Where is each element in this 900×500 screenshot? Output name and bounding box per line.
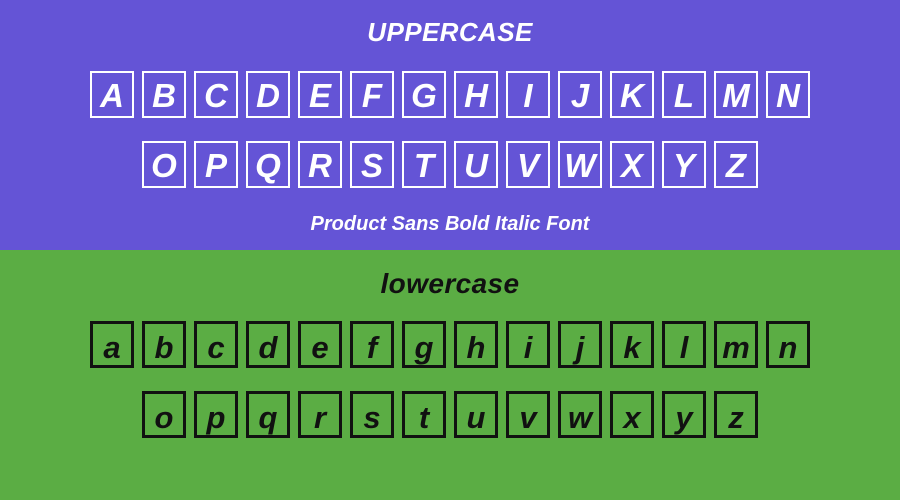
lowercase-panel: lowercase abcdefghijklmn opqrstuvwxyz Pr… (0, 250, 900, 500)
glyph-cell: r (298, 391, 342, 438)
glyph-character: u (467, 402, 486, 433)
glyph-cell: u (454, 391, 498, 438)
glyph-character: Y (673, 149, 695, 182)
glyph-character: T (414, 149, 434, 182)
glyph-cell: c (194, 321, 238, 368)
glyph-character: i (524, 332, 533, 363)
glyph-character: o (155, 402, 174, 433)
glyph-character: n (779, 332, 798, 363)
glyph-cell: C (194, 71, 238, 118)
glyph-character: x (623, 402, 640, 433)
glyph-cell: k (610, 321, 654, 368)
glyph-character: O (151, 149, 177, 182)
glyph-cell: R (298, 141, 342, 188)
glyph-cell: W (558, 141, 602, 188)
glyph-character: U (464, 149, 488, 182)
glyph-cell: X (610, 141, 654, 188)
glyph-character: v (519, 402, 536, 433)
glyph-character: L (674, 79, 694, 112)
glyph-cell: m (714, 321, 758, 368)
glyph-character: G (411, 79, 437, 112)
glyph-cell: V (506, 141, 550, 188)
glyph-character: Z (726, 149, 746, 182)
glyph-cell: x (610, 391, 654, 438)
glyph-cell: i (506, 321, 550, 368)
glyph-cell: p (194, 391, 238, 438)
uppercase-glyph-row-1: ABCDEFGHIJKLMN (0, 71, 900, 118)
glyph-character: F (362, 79, 382, 112)
lowercase-glyph-row-1: abcdefghijklmn (0, 321, 900, 368)
glyph-cell: D (246, 71, 290, 118)
glyph-character: q (259, 402, 278, 433)
glyph-cell: Z (714, 141, 758, 188)
glyph-character: M (722, 79, 750, 112)
glyph-character: C (204, 79, 228, 112)
glyph-character: E (309, 79, 331, 112)
glyph-character: a (103, 332, 120, 363)
glyph-character: j (576, 332, 585, 363)
font-specimen-sheet: UPPERCASE ABCDEFGHIJKLMN OPQRSTUVWXYZ Pr… (0, 0, 900, 500)
glyph-cell: O (142, 141, 186, 188)
glyph-character: k (623, 332, 640, 363)
glyph-character: g (415, 332, 434, 363)
glyph-cell: j (558, 321, 602, 368)
glyph-cell: v (506, 391, 550, 438)
lowercase-glyph-row-2: opqrstuvwxyz (0, 391, 900, 438)
glyph-character: p (207, 402, 226, 433)
glyph-cell: N (766, 71, 810, 118)
glyph-cell: f (350, 321, 394, 368)
glyph-cell: K (610, 71, 654, 118)
glyph-character: f (367, 332, 377, 363)
glyph-cell: B (142, 71, 186, 118)
glyph-cell: e (298, 321, 342, 368)
glyph-cell: E (298, 71, 342, 118)
glyph-cell: s (350, 391, 394, 438)
glyph-cell: t (402, 391, 446, 438)
glyph-cell: l (662, 321, 706, 368)
glyph-character: d (259, 332, 278, 363)
uppercase-section-title: UPPERCASE (0, 17, 900, 48)
uppercase-font-caption: Product Sans Bold Italic Font (0, 213, 900, 236)
glyph-cell: G (402, 71, 446, 118)
glyph-cell: b (142, 321, 186, 368)
glyph-cell: U (454, 141, 498, 188)
glyph-cell: g (402, 321, 446, 368)
lowercase-section-title: lowercase (0, 268, 900, 300)
glyph-character: H (464, 79, 488, 112)
glyph-character: y (675, 402, 692, 433)
glyph-character: V (517, 149, 539, 182)
glyph-cell: d (246, 321, 290, 368)
glyph-character: B (152, 79, 176, 112)
glyph-character: w (568, 402, 592, 433)
glyph-character: D (256, 79, 280, 112)
glyph-cell: Q (246, 141, 290, 188)
glyph-cell: J (558, 71, 602, 118)
glyph-character: h (467, 332, 486, 363)
glyph-character: m (722, 332, 750, 363)
glyph-character: R (308, 149, 332, 182)
glyph-cell: h (454, 321, 498, 368)
uppercase-panel: UPPERCASE ABCDEFGHIJKLMN OPQRSTUVWXYZ Pr… (0, 0, 900, 250)
glyph-cell: A (90, 71, 134, 118)
glyph-cell: a (90, 321, 134, 368)
glyph-character: s (363, 402, 380, 433)
glyph-character: N (776, 79, 800, 112)
glyph-character: J (571, 79, 589, 112)
glyph-cell: Y (662, 141, 706, 188)
glyph-character: W (564, 149, 595, 182)
glyph-character: Q (255, 149, 281, 182)
glyph-cell: T (402, 141, 446, 188)
glyph-character: I (523, 79, 532, 112)
glyph-character: l (680, 332, 689, 363)
glyph-character: t (419, 402, 429, 433)
glyph-cell: I (506, 71, 550, 118)
glyph-character: A (100, 79, 124, 112)
uppercase-glyph-row-2: OPQRSTUVWXYZ (0, 141, 900, 188)
glyph-cell: y (662, 391, 706, 438)
glyph-cell: z (714, 391, 758, 438)
glyph-cell: o (142, 391, 186, 438)
glyph-cell: L (662, 71, 706, 118)
glyph-cell: M (714, 71, 758, 118)
glyph-cell: F (350, 71, 394, 118)
glyph-character: X (621, 149, 643, 182)
glyph-cell: q (246, 391, 290, 438)
glyph-cell: S (350, 141, 394, 188)
glyph-character: r (314, 402, 326, 433)
glyph-character: z (728, 402, 744, 433)
glyph-cell: w (558, 391, 602, 438)
glyph-character: b (155, 332, 174, 363)
glyph-character: S (361, 149, 383, 182)
glyph-cell: P (194, 141, 238, 188)
glyph-character: K (620, 79, 644, 112)
glyph-character: e (311, 332, 328, 363)
glyph-cell: H (454, 71, 498, 118)
glyph-character: c (207, 332, 224, 363)
glyph-cell: n (766, 321, 810, 368)
glyph-character: P (205, 149, 227, 182)
